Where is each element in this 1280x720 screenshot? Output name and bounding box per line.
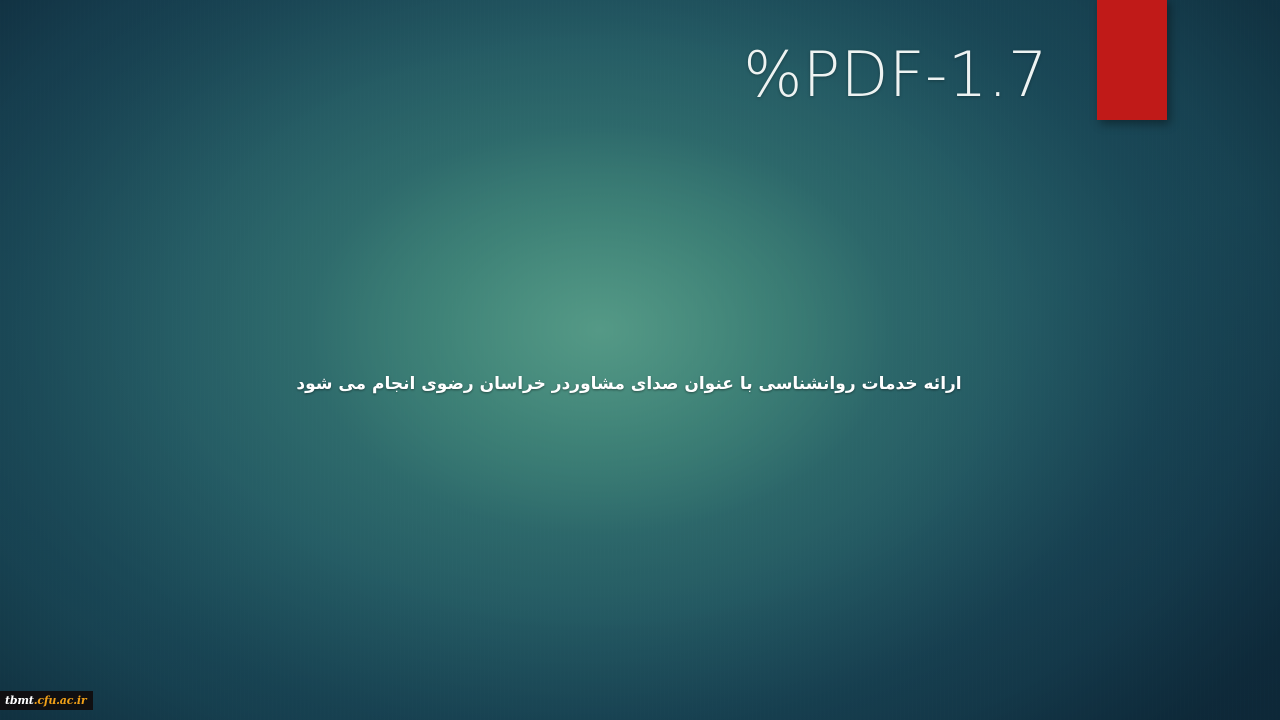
red-accent-rectangle [1097,0,1167,120]
watermark-site-domain: .cfu.ac.ir [34,695,87,706]
watermark-site-name: tbmt [5,695,34,706]
background-vignette [0,0,1280,720]
slide-title: %PDF-1.7 [0,44,1048,106]
slide-body-text: ارائه خدمات روانشناسی با عنوان صدای مشاو… [0,372,1258,397]
watermark-badge: tbmt.cfu.ac.ir [0,691,93,710]
background-texture [0,0,1280,720]
presentation-slide: %PDF-1.7 ارائه خدمات روانشناسی با عنوان … [0,0,1280,720]
